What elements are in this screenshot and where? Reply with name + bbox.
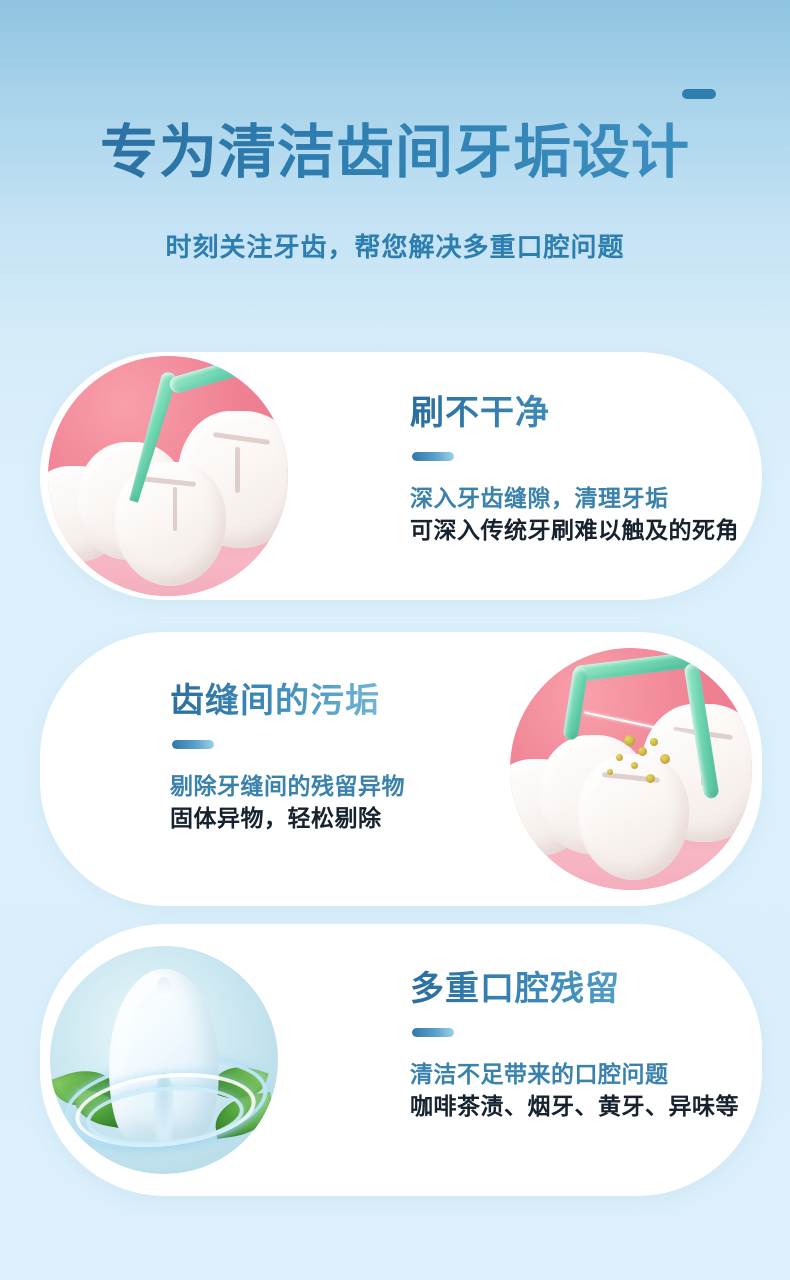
card-2-body: 齿缝间的污垢 剔除牙缝间的残留异物 固体异物，轻松剔除 (40, 632, 762, 906)
tooth-fissure (173, 487, 177, 532)
top-dash-icon (682, 89, 716, 99)
page-title: 专为清洁齿间牙垢设计 (0, 118, 790, 188)
feature-card-1[interactable]: 刷不干净 深入牙齿缝隙，清理牙垢 可深入传统牙刷难以触及的死角 (40, 352, 762, 600)
card-3-body: 多重口腔残留 清洁不足带来的口腔问题 咖啡茶渍、烟牙、黄牙、异味等 (40, 924, 762, 1196)
tooth-fissure (212, 432, 270, 445)
card-2-line1: 剔除牙缝间的残留异物 (170, 771, 405, 801)
card-1-divider-dash (412, 452, 454, 461)
tooth-fissure (139, 476, 197, 487)
debris-particle (646, 774, 655, 783)
card-3-title: 多重口腔残留 (410, 968, 739, 1010)
card-1-title: 刷不干净 (410, 392, 739, 434)
tooth-fissure (235, 447, 240, 494)
card-1-text: 刷不干净 深入牙齿缝隙，清理牙垢 可深入传统牙刷难以触及的死角 (410, 392, 739, 545)
card-2-text: 齿缝间的污垢 剔除牙缝间的残留异物 固体异物，轻松剔除 (170, 680, 405, 833)
debris-particle (650, 738, 658, 746)
card-3-text: 多重口腔残留 清洁不足带来的口腔问题 咖啡茶渍、烟牙、黄牙、异味等 (410, 968, 739, 1121)
card-3-line2: 咖啡茶渍、烟牙、黄牙、异味等 (410, 1091, 739, 1121)
debris-particle (624, 735, 635, 746)
card-1-line1: 深入牙齿缝隙，清理牙垢 (410, 483, 739, 513)
debris-particle (631, 762, 638, 769)
dental-scene (48, 356, 288, 596)
page-subtitle: 时刻关注牙齿，帮您解决多重口腔问题 (0, 230, 790, 264)
tooth-crown-notch (157, 977, 170, 997)
card-3-divider-dash (412, 1028, 454, 1037)
card-2-title: 齿缝间的污垢 (170, 680, 405, 722)
tooth-gum-floss-pick-debris-illustration (510, 648, 752, 890)
feature-card-3[interactable]: 多重口腔残留 清洁不足带来的口腔问题 咖啡茶渍、烟牙、黄牙、异味等 (40, 924, 762, 1196)
card-1-body: 刷不干净 深入牙齿缝隙，清理牙垢 可深入传统牙刷难以触及的死角 (40, 352, 762, 600)
card-1-line2: 可深入传统牙刷难以触及的死角 (410, 515, 739, 545)
tooth-c (115, 462, 225, 587)
card-3-line1: 清洁不足带来的口腔问题 (410, 1059, 739, 1089)
clean-white-tooth-mint-water-illustration (50, 946, 278, 1174)
dental-scene (510, 648, 752, 890)
card-2-line2: 固体异物，轻松剔除 (170, 803, 405, 833)
card-2-divider-dash (172, 740, 214, 749)
clean-tooth-scene (50, 946, 278, 1174)
feature-card-2[interactable]: 齿缝间的污垢 剔除牙缝间的残留异物 固体异物，轻松剔除 (40, 632, 762, 906)
tooth-gum-interdental-pick-illustration (48, 356, 288, 596)
debris-particle (607, 769, 613, 775)
